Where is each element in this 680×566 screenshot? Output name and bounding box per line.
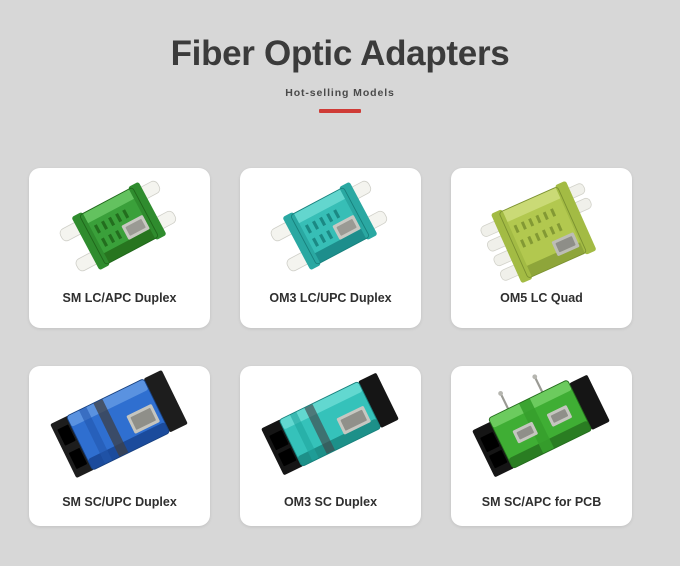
sc-duplex-adapter-blue-icon (29, 366, 210, 484)
product-image (240, 366, 421, 484)
product-label: SM SC/UPC Duplex (29, 495, 210, 510)
product-label: OM5 LC Quad (451, 291, 632, 306)
product-label: SM LC/APC Duplex (29, 291, 210, 306)
page-subtitle: Hot-selling Models (0, 87, 680, 99)
product-image (29, 366, 210, 484)
product-card[interactable]: SM LC/APC Duplex (29, 168, 210, 328)
product-image (451, 168, 632, 286)
lc-duplex-adapter-aqua-icon (240, 168, 421, 286)
lc-quad-adapter-lime-icon (451, 168, 632, 286)
product-image (29, 168, 210, 286)
product-label: OM3 LC/UPC Duplex (240, 291, 421, 306)
accent-underline (319, 109, 361, 113)
lc-duplex-adapter-green-icon (29, 168, 210, 286)
product-card[interactable]: OM3 LC/UPC Duplex (240, 168, 421, 328)
product-showcase-page: Fiber Optic Adapters Hot-selling Models (0, 0, 680, 566)
product-card[interactable]: SM SC/UPC Duplex (29, 366, 210, 526)
product-label: OM3 SC Duplex (240, 495, 421, 510)
product-card[interactable]: SM SC/APC for PCB (451, 366, 632, 526)
page-header: Fiber Optic Adapters Hot-selling Models (0, 0, 680, 113)
product-image (240, 168, 421, 286)
product-card[interactable]: OM3 SC Duplex (240, 366, 421, 526)
sc-pcb-adapter-green-icon (451, 366, 632, 484)
product-card[interactable]: OM5 LC Quad (451, 168, 632, 328)
product-grid: SM LC/APC Duplex (29, 168, 651, 526)
page-title: Fiber Optic Adapters (0, 36, 680, 73)
sc-duplex-adapter-aqua-icon (240, 366, 421, 484)
product-label: SM SC/APC for PCB (451, 495, 632, 510)
product-image (451, 366, 632, 484)
